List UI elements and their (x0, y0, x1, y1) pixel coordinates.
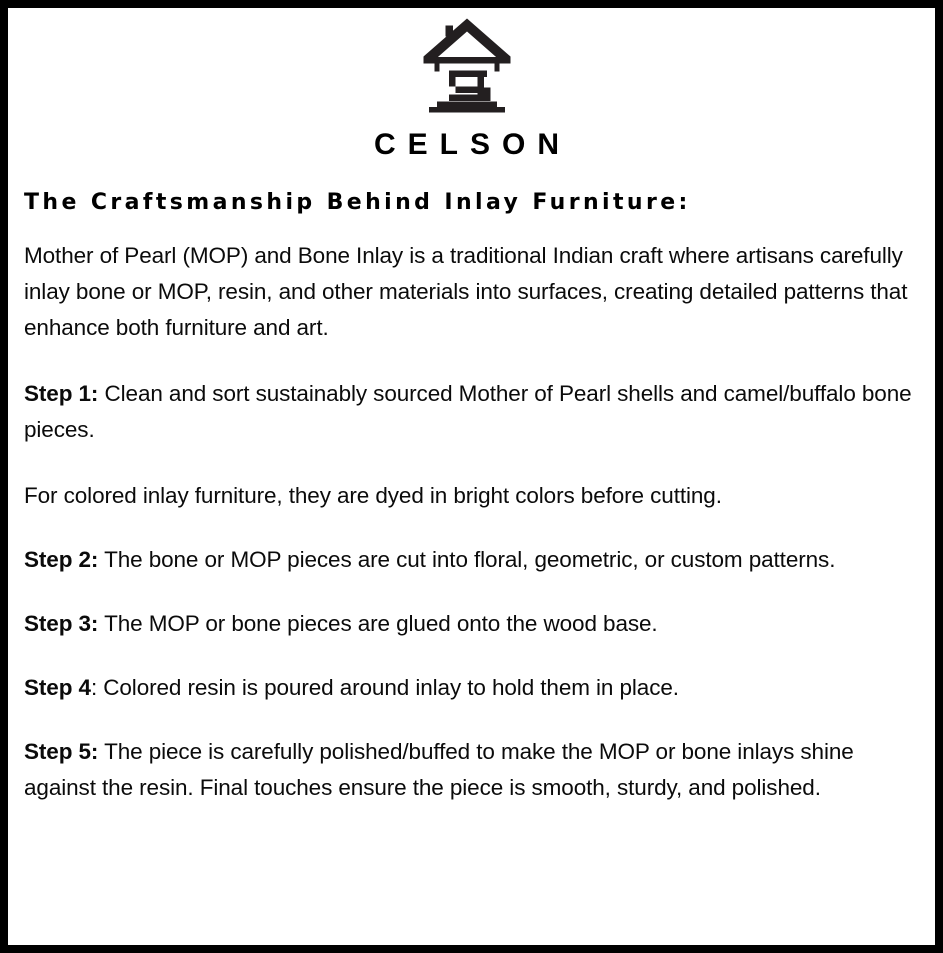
poster-card: CELSON The Craftsmanship Behind Inlay Fu… (0, 0, 943, 953)
step-3-text: The MOP or bone pieces are glued onto th… (98, 611, 657, 636)
brand-wordmark: CELSON (16, 130, 917, 160)
paragraph-intro-text: Mother of Pearl (MOP) and Bone Inlay is … (24, 243, 907, 340)
house-monogram-logo-icon (421, 16, 513, 116)
paragraph-step-1: Step 1: Clean and sort sustainably sourc… (24, 376, 916, 448)
step-3-label: Step 3: (24, 611, 98, 636)
step-2-label: Step 2: (24, 547, 98, 572)
step-5-label: Step 5: (24, 739, 98, 764)
step-5-text: The piece is carefully polished/buffed t… (24, 739, 854, 800)
paragraph-step-3: Step 3: The MOP or bone pieces are glued… (24, 606, 916, 642)
poster-inner: CELSON The Craftsmanship Behind Inlay Fu… (8, 8, 935, 945)
brand-block: CELSON (16, 14, 917, 160)
body-copy: Mother of Pearl (MOP) and Bone Inlay is … (24, 238, 916, 806)
paragraph-step-4: Step 4: Colored resin is poured around i… (24, 670, 916, 706)
page-title: The Craftsmanship Behind Inlay Furniture… (24, 190, 917, 216)
step-1-label: Step 1: (24, 381, 98, 406)
step-1-text: Clean and sort sustainably sourced Mothe… (24, 381, 912, 442)
step-4-text: : Colored resin is poured around inlay t… (91, 675, 679, 700)
paragraph-step-2: Step 2: The bone or MOP pieces are cut i… (24, 542, 916, 578)
paragraph-step-5: Step 5: The piece is carefully polished/… (24, 734, 916, 806)
paragraph-dyeing-note: For colored inlay furniture, they are dy… (24, 478, 916, 514)
step-4-label: Step 4 (24, 675, 91, 700)
dyeing-note-text: For colored inlay furniture, they are dy… (24, 483, 722, 508)
step-2-text: The bone or MOP pieces are cut into flor… (98, 547, 835, 572)
paragraph-intro: Mother of Pearl (MOP) and Bone Inlay is … (24, 238, 916, 346)
